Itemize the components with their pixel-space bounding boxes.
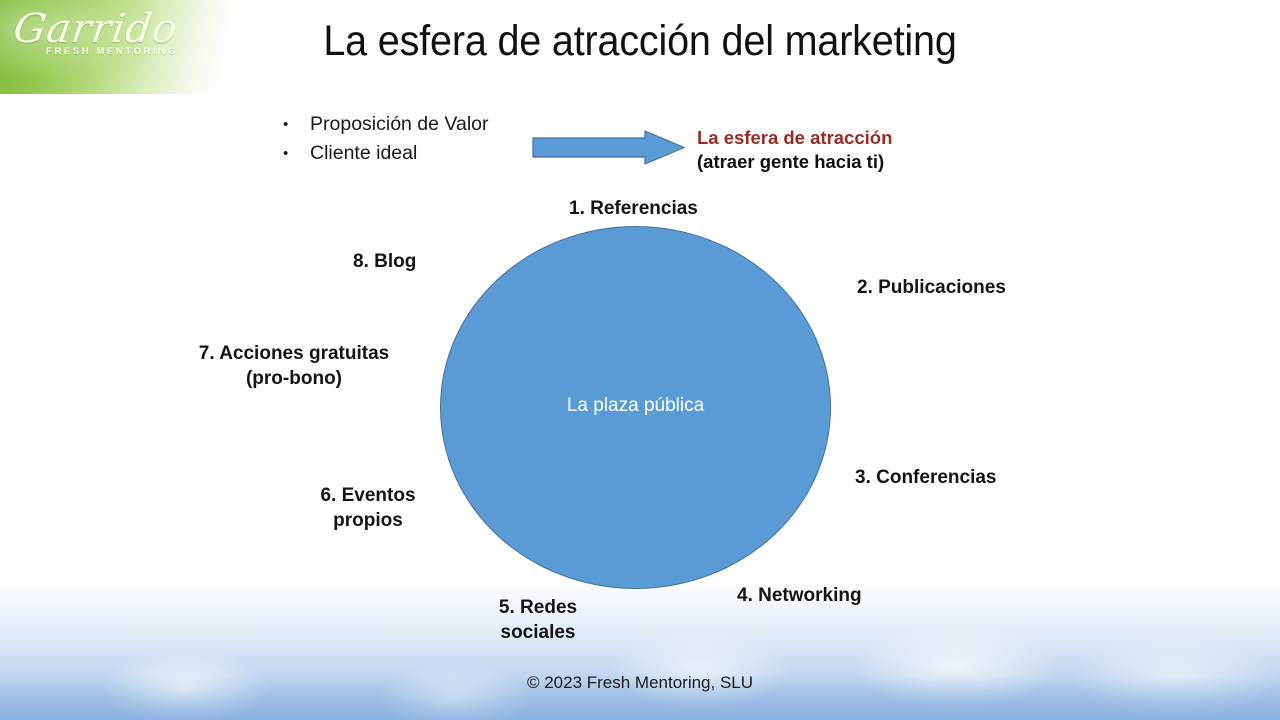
node-label-publicaciones: 2. Publicaciones — [857, 275, 1006, 300]
slide-canvas: Garrido FRESH MENTORING La esfera de atr… — [0, 0, 1280, 720]
right-arrow-icon — [532, 130, 686, 171]
node-label-acciones-gratuitas: 7. Acciones gratuitas (pro-bono) — [188, 341, 400, 391]
central-circle-shape: La plaza pública — [440, 226, 831, 589]
callout-subtitle: (atraer gente hacia ti) — [697, 150, 892, 174]
node-label-conferencias: 3. Conferencias — [855, 465, 997, 490]
node-label-referencias: 1. Referencias — [569, 196, 698, 221]
node-label-line: 7. Acciones gratuitas — [188, 341, 400, 366]
node-label-line: (pro-bono) — [188, 366, 400, 391]
bottom-decorative-band — [0, 570, 1280, 720]
callout-title: La esfera de atracción — [697, 126, 892, 150]
copyright-footer: © 2023 Fresh Mentoring, SLU — [0, 673, 1280, 693]
node-label-line: 5. Redes — [492, 595, 584, 620]
list-item-label: Cliente ideal — [310, 139, 417, 168]
central-circle-label: La plaza pública — [441, 395, 830, 417]
list-item-label: Proposición de Valor — [310, 110, 489, 139]
page-title: La esfera de atracción del marketing — [51, 17, 1229, 66]
bullet-marker-icon: • — [283, 110, 310, 139]
node-label-line: 6. Eventos — [313, 483, 423, 508]
bullet-marker-icon: • — [283, 139, 310, 168]
node-label-redes-sociales: 5. Redes sociales — [492, 595, 584, 645]
node-label-line: propios — [313, 508, 423, 533]
node-label-eventos-propios: 6. Eventos propios — [313, 483, 423, 533]
node-label-networking: 4. Networking — [737, 583, 862, 608]
node-label-line: sociales — [492, 620, 584, 645]
callout-block: La esfera de atracción (atraer gente hac… — [697, 126, 892, 174]
node-label-blog: 8. Blog — [353, 249, 416, 274]
